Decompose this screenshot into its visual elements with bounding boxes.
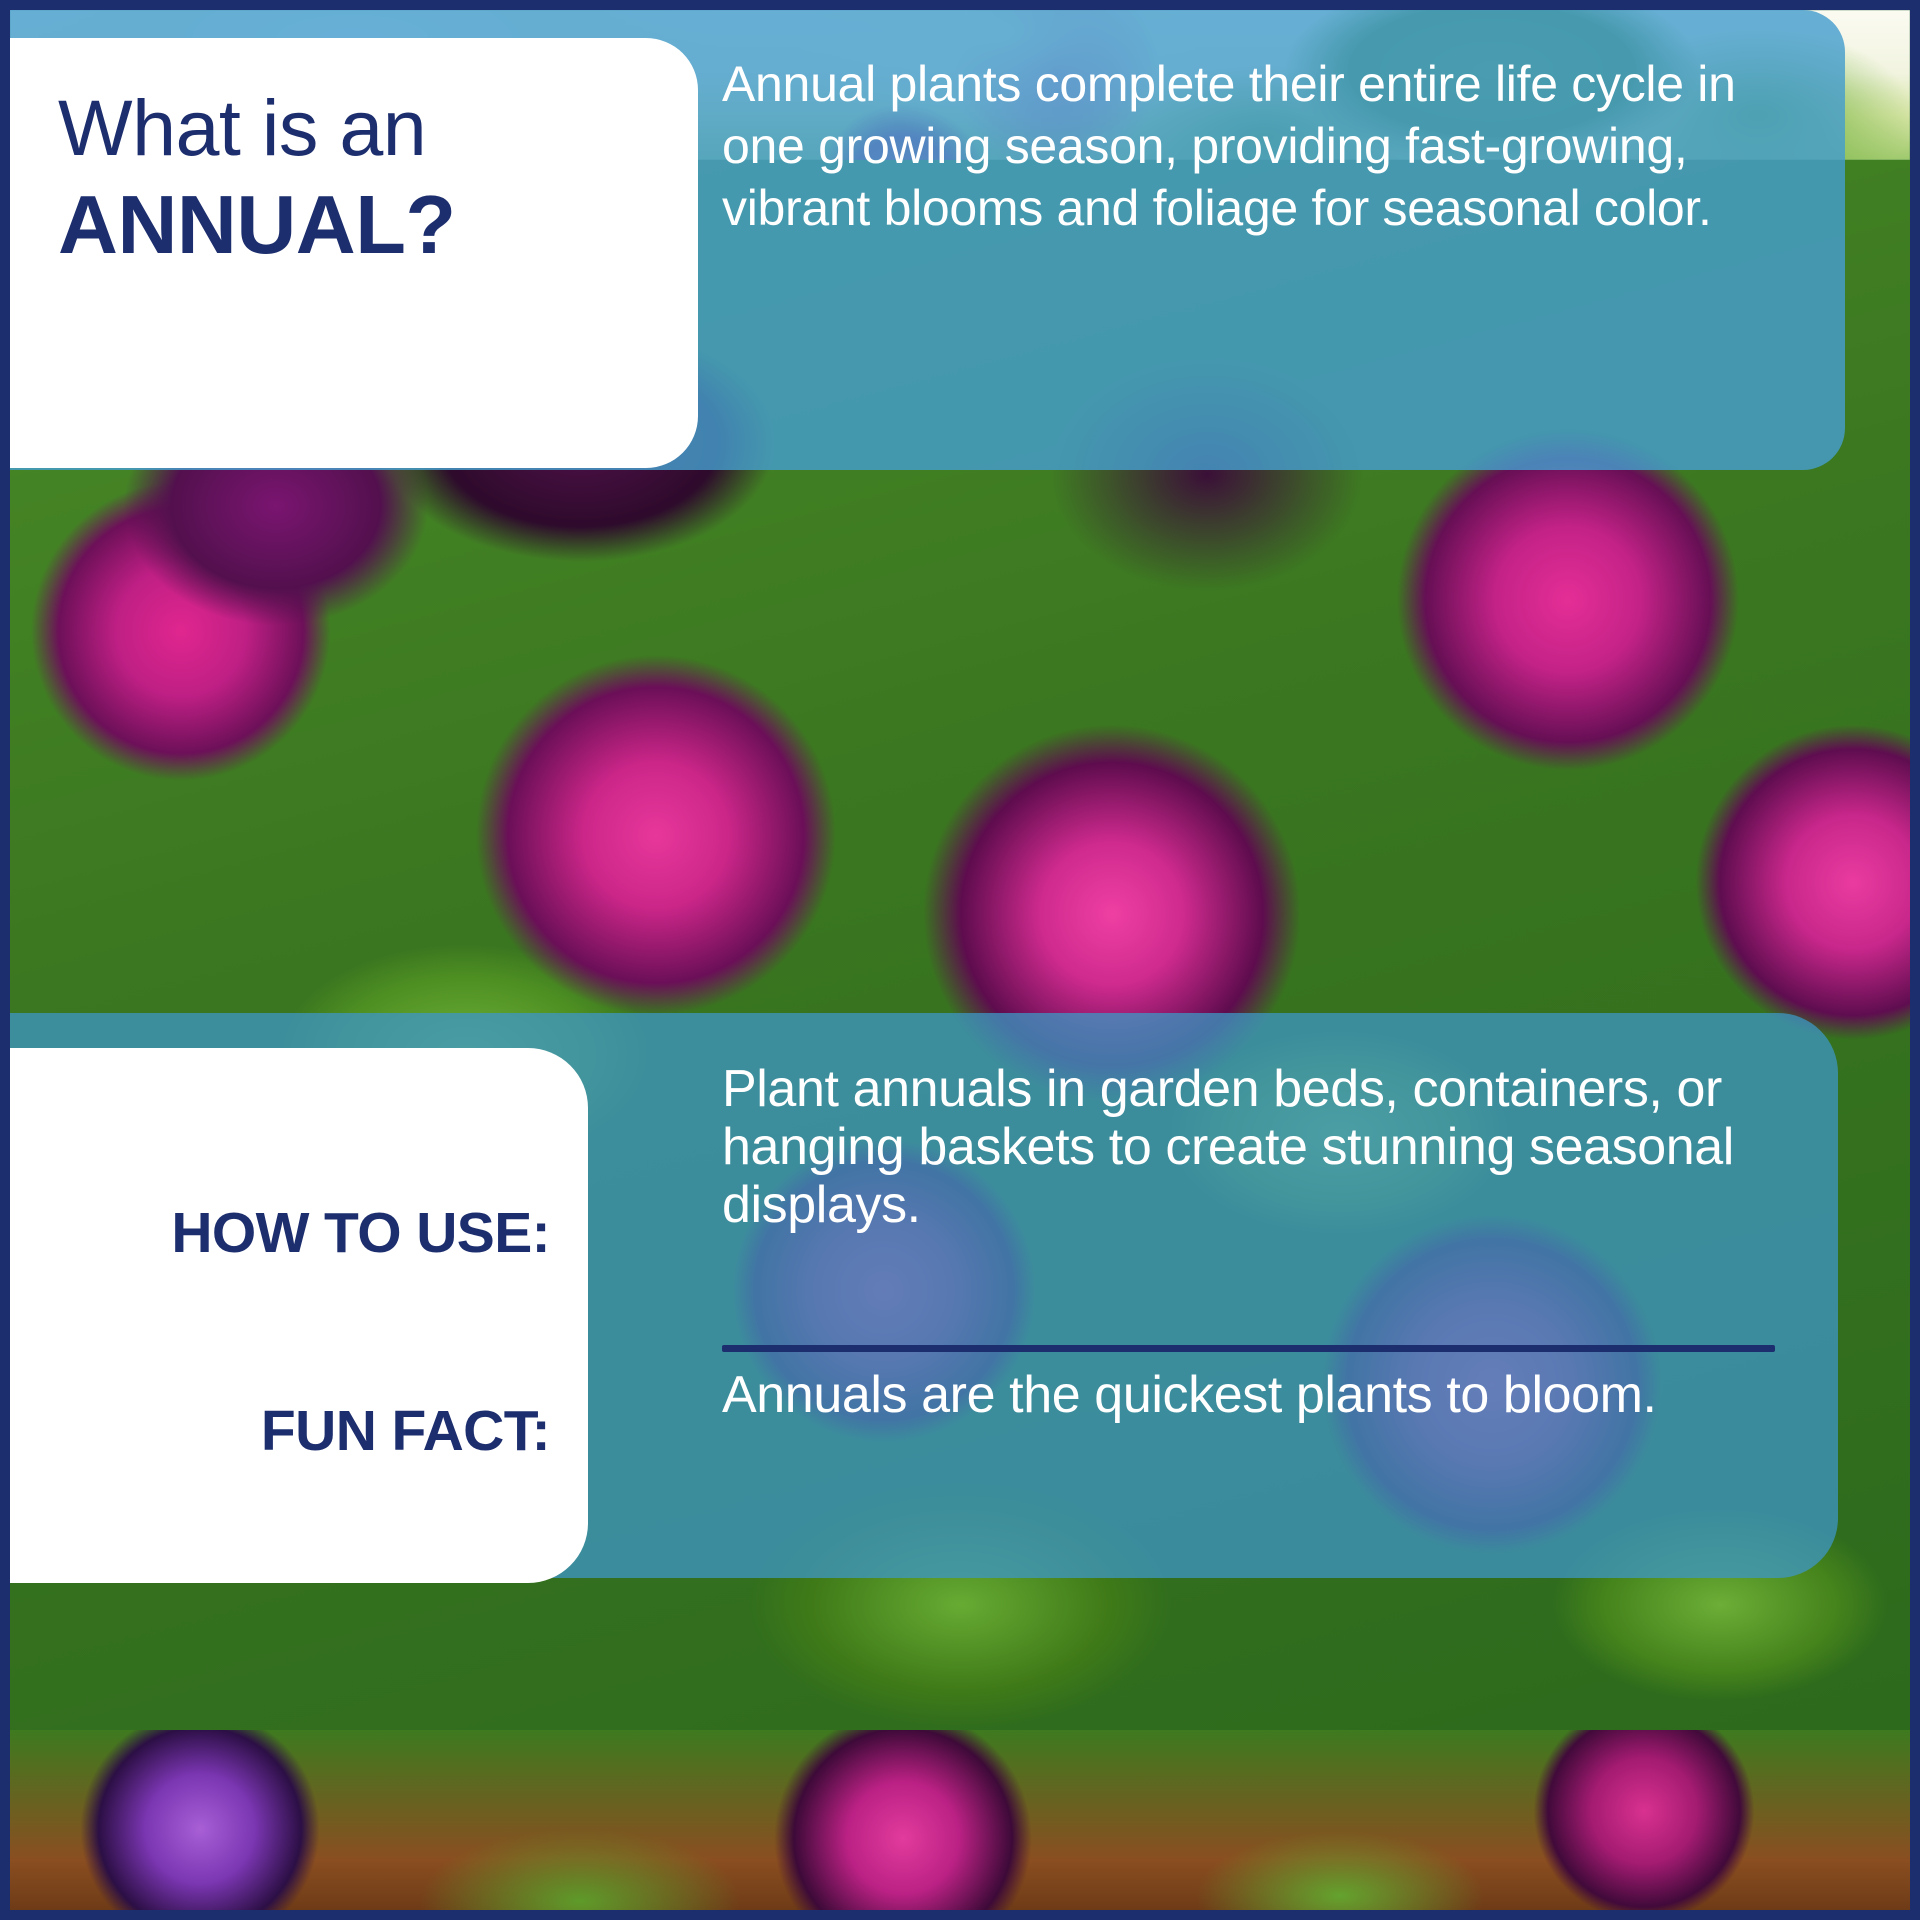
page-title: What is an ANNUAL?: [58, 88, 658, 267]
how-to-use-text: Plant annuals in garden beds, containers…: [722, 1060, 1807, 1235]
background-photo-bottom: [10, 1730, 1910, 1910]
poster-stage: What is an ANNUAL? Annual plants complet…: [10, 10, 1910, 1910]
labels-card: [10, 1048, 588, 1583]
how-to-use-label: HOW TO USE:: [20, 1200, 550, 1266]
poster-frame: What is an ANNUAL? Annual plants complet…: [0, 0, 1920, 1920]
definition-text: Annual plants complete their entire life…: [722, 53, 1782, 239]
fun-fact-label: FUN FACT:: [20, 1398, 550, 1464]
section-divider: [722, 1345, 1775, 1352]
fun-fact-text: Annuals are the quickest plants to bloom…: [722, 1365, 1807, 1425]
page-title-line-two: ANNUAL?: [58, 183, 658, 268]
page-title-line-one: What is an: [58, 88, 658, 169]
